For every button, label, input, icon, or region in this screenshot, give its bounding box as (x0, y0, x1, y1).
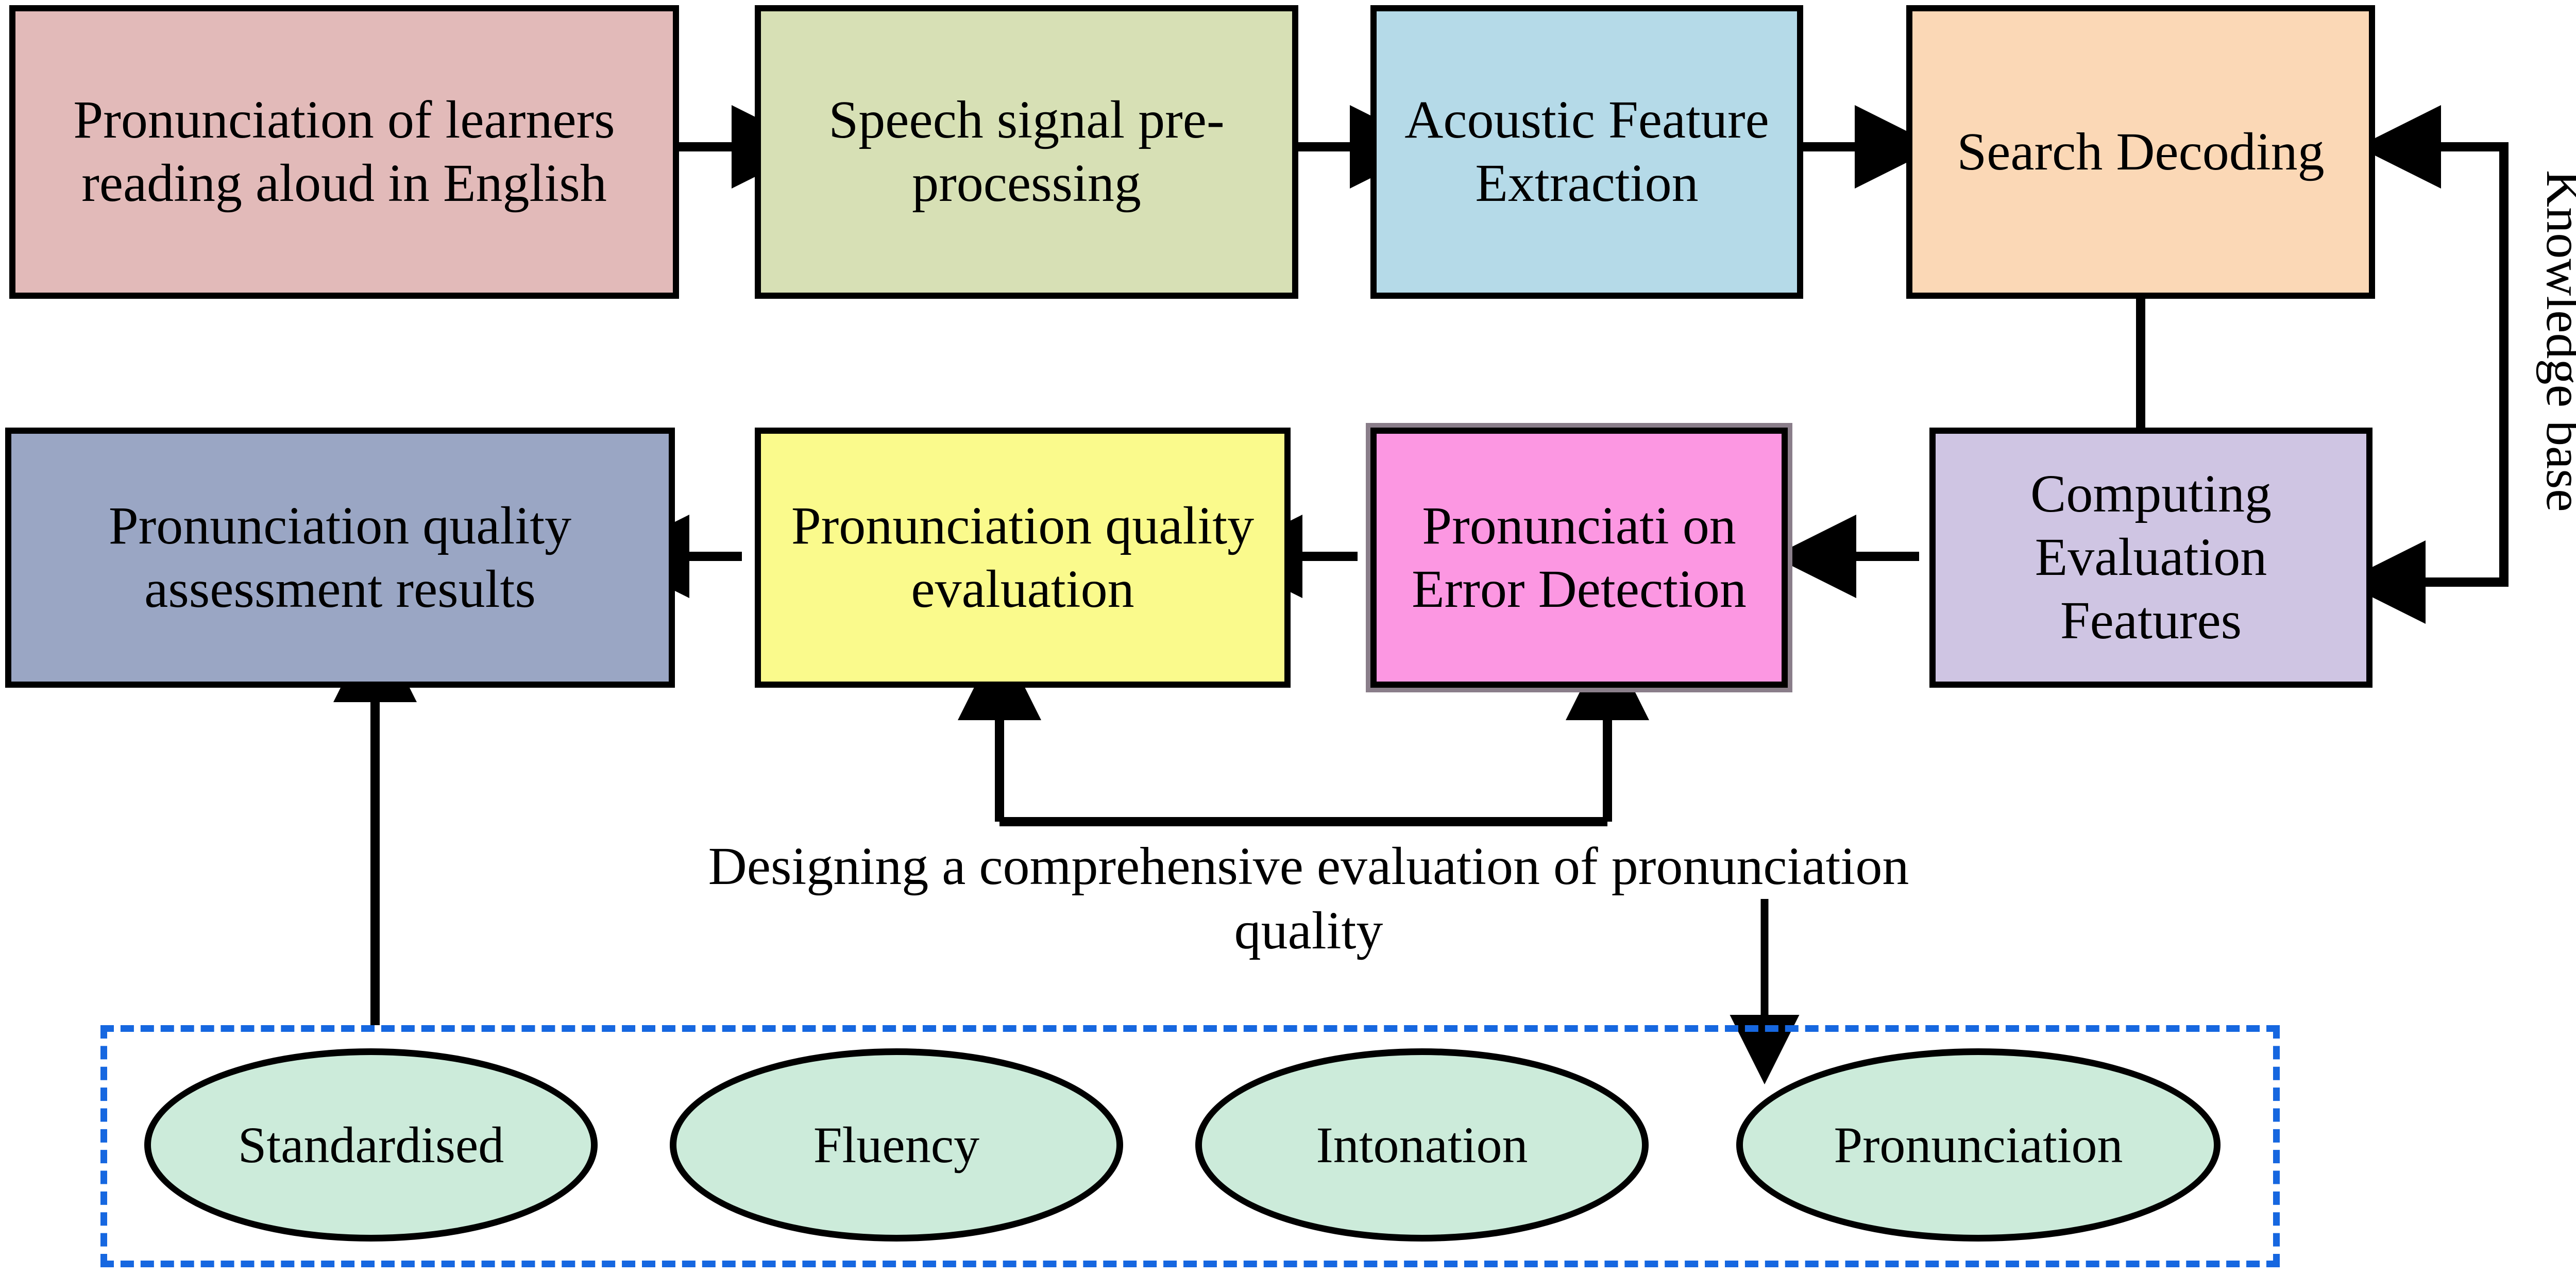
node-preprocess-label: Speech signal pre-processing (766, 89, 1287, 215)
knowledge-base-label: Knowledge base (2535, 170, 2576, 512)
criteria-standardised-label: Standardised (238, 1115, 504, 1175)
node-errordet[interactable]: Pronunciati on Error Detection (1370, 428, 1788, 688)
criteria-intonation[interactable]: Intonation (1195, 1048, 1649, 1242)
node-feature[interactable]: Acoustic Feature Extraction (1370, 5, 1803, 299)
criteria-standardised[interactable]: Standardised (144, 1048, 598, 1242)
node-evaluate[interactable]: Pronunciation quality evaluation (755, 428, 1291, 688)
node-decode-label: Search Decoding (1918, 121, 2364, 184)
caption-comprehensive-evaluation: Designing a comprehensive evaluation of … (685, 835, 1932, 963)
criteria-fluency-label: Fluency (814, 1115, 979, 1175)
criteria-fluency[interactable]: Fluency (670, 1048, 1123, 1242)
edge-knowledge-base (2432, 147, 2504, 582)
node-decode[interactable]: Search Decoding (1906, 5, 2375, 299)
node-compute-label: Computing Evaluation Features (1941, 463, 2361, 652)
node-results[interactable]: Pronunciation quality assessment results (5, 428, 675, 688)
flowchart-canvas: Pronunciation of learners reading aloud … (0, 0, 2576, 1275)
node-evaluate-label: Pronunciation quality evaluation (766, 495, 1279, 621)
criteria-pronunciation-label: Pronunciation (1834, 1115, 2123, 1175)
caption-text: Designing a comprehensive evaluation of … (708, 837, 1909, 960)
criteria-intonation-label: Intonation (1316, 1115, 1528, 1175)
node-input-label: Pronunciation of learners reading aloud … (21, 89, 668, 215)
node-preprocess[interactable]: Speech signal pre-processing (755, 5, 1298, 299)
node-feature-label: Acoustic Feature Extraction (1382, 89, 1792, 215)
knowledge-base-text: Knowledge base (2536, 170, 2576, 512)
node-input[interactable]: Pronunciation of learners reading aloud … (9, 5, 679, 299)
node-errordet-label: Pronunciati on Error Detection (1382, 495, 1776, 621)
criteria-pronunciation[interactable]: Pronunciation (1736, 1048, 2221, 1242)
node-results-label: Pronunciation quality assessment results (16, 495, 664, 621)
node-compute[interactable]: Computing Evaluation Features (1929, 428, 2372, 688)
